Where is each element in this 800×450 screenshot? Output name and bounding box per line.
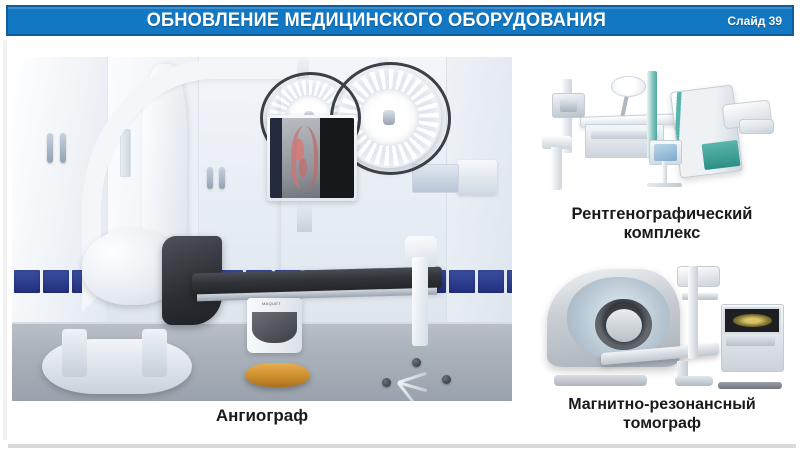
door-handle-icon [47,133,53,163]
xray-pedestal-column [551,147,563,190]
caption-mri: Магнитно-резонансный томограф [520,396,800,434]
xray-exam-lamp-icon [611,76,646,96]
slide-root: ОБНОВЛЕНИЕ МЕДИЦИНСКОГО ОБОРУДОВАНИЯ Сла… [0,0,800,450]
monitor-screen [270,118,354,198]
xray-photo [534,62,790,204]
operating-table-base [245,363,310,387]
xray-cart-pole [662,161,667,184]
carm-leg [62,329,87,377]
ultrasound-cart-base [718,382,782,389]
caption-xray-line2: комплекс [524,224,800,243]
left-edge-rule [3,40,7,440]
page-title: ОБНОВЛЕНИЕ МЕДИЦИНСКОГО ОБОРУДОВАНИЯ [146,10,606,32]
monitor-sidebar [270,118,282,198]
xray-tube-head [552,93,585,118]
mammography-base [675,376,713,386]
mammography-column [688,266,698,358]
caption-mri-line1: Магнитно-резонансный [520,396,800,415]
or-wall-device [457,160,497,194]
slide-header-bar: ОБНОВЛЕНИЕ МЕДИЦИНСКОГО ОБОРУДОВАНИЯ Сла… [6,5,794,36]
mri-photo [534,258,790,394]
slide-number-badge: Слайд 39 [727,14,782,28]
carm-leg [142,329,167,377]
xray-bucky-panel [702,139,741,169]
xray-tube-arm-secondary [739,119,774,134]
equipment-stand-pole [412,257,428,346]
caster-wheel-icon [412,358,421,367]
xray-tube-window [560,99,577,112]
bottom-rule [8,444,796,448]
caption-mri-line2: томограф [520,415,800,434]
ultrasound-monitor [723,307,781,334]
mri-bore [595,299,651,351]
angiography-image [282,118,321,198]
xray-system-scene [534,62,790,204]
operating-table-column-cover [252,312,297,343]
angiograph-photo: MAQUET [12,57,512,401]
xray-cart-base [647,183,683,187]
door-handle-icon [60,133,66,163]
ultrasound-control-panel [726,334,775,346]
angiography-monitor [267,115,357,201]
mri-scene [534,258,790,394]
monitor-arm [297,201,312,232]
caster-wheel-icon [442,375,451,384]
operating-room-scene: MAQUET [12,57,512,401]
caption-xray-complex: Рентгенографический комплекс [524,205,800,244]
mammography-head [677,266,720,287]
mri-base [554,375,646,386]
caption-xray-line1: Рентгенографический [524,205,800,224]
caption-angiograph: Ангиограф [12,406,512,426]
monitor-blank-area [320,118,354,198]
xray-cart-screen [654,144,676,160]
operating-table-brand-label: MAQUET [262,301,281,306]
